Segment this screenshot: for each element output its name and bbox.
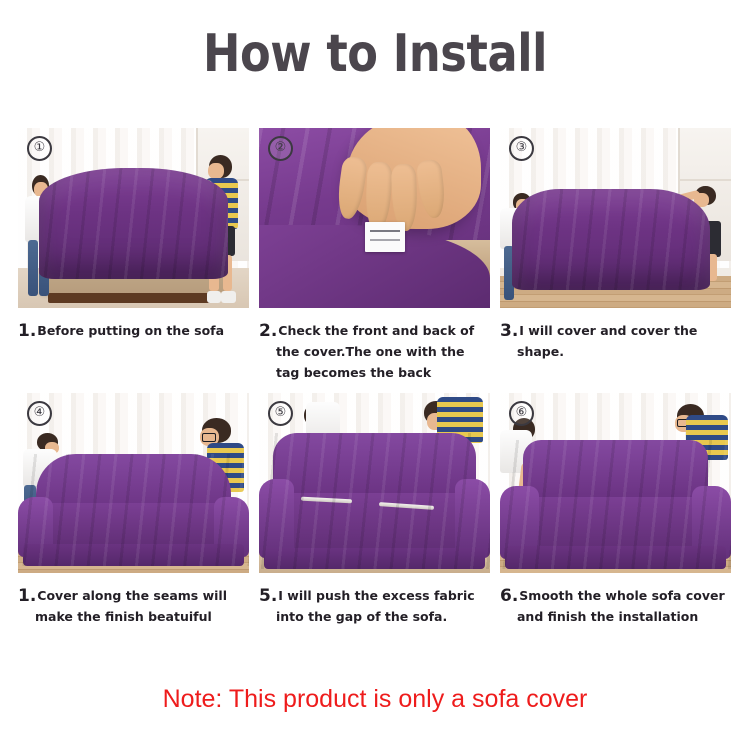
covered-sofa — [18, 454, 249, 566]
covered-sofa — [500, 440, 731, 570]
fabric-folds — [512, 189, 711, 290]
step-card-3: ③ 3.I will cover and cover theshape. — [500, 128, 731, 383]
sofa-seat — [514, 497, 717, 551]
step-badge-4: ④ — [27, 401, 52, 426]
step-badge-5: ⑤ — [268, 401, 293, 426]
purple-cover-cloth — [39, 168, 228, 280]
step-card-5: ⑤ 5.I will push the excess fabricinto th… — [259, 393, 490, 627]
sofa-back — [523, 440, 708, 497]
caption-line-1: Cover along the seams will — [37, 588, 227, 603]
sofa-arm-left — [259, 479, 294, 558]
step-number: 1. — [18, 321, 36, 341]
shoe — [221, 291, 235, 303]
sofa-skirt — [23, 544, 245, 566]
step-badge-2: ② — [268, 136, 293, 161]
sofa-seat — [32, 503, 235, 548]
leg — [28, 240, 38, 295]
step-card-4: ④ 1.Cover along the seams willmake the f… — [18, 393, 249, 627]
caption-line-3: tag becomes the back — [276, 362, 490, 383]
step-number: 6. — [500, 586, 518, 606]
sofa-seat — [273, 493, 476, 553]
care-tag — [365, 222, 404, 253]
how-to-install-infographic: How to Install — [0, 0, 750, 750]
tag-text-line — [370, 239, 401, 241]
fabric-folds — [39, 168, 228, 280]
step-number: 5. — [259, 586, 277, 606]
step-card-2: ② 2.Check the front and back ofthe cover… — [259, 128, 490, 383]
covered-sofa — [259, 433, 490, 570]
step-number: 2. — [259, 321, 277, 341]
sofa-skirt — [505, 546, 727, 569]
sofa-back — [273, 433, 476, 496]
step-photo-2: ② — [259, 128, 490, 308]
step-number: 1. — [18, 586, 36, 606]
caption-line-1: Smooth the whole sofa cover — [519, 588, 724, 603]
step-caption-3: 3.I will cover and cover theshape. — [500, 308, 731, 362]
tag-text-line — [370, 230, 401, 232]
glasses-icon — [202, 433, 216, 442]
caption-line-1: Before putting on the sofa — [37, 323, 224, 338]
finger — [416, 158, 448, 219]
step-photo-6: ⑥ — [500, 393, 731, 573]
step-photo-4: ④ — [18, 393, 249, 573]
sofa-arm-right — [455, 479, 490, 558]
caption-line-2: shape. — [517, 341, 731, 362]
hand — [347, 128, 481, 229]
step-caption-2: 2.Check the front and back ofthe cover.T… — [259, 308, 490, 383]
product-note: Note: This product is only a sofa cover — [0, 684, 750, 714]
step-caption-1: 1.Before putting on the sofa — [18, 308, 249, 341]
sofa-skirt — [264, 548, 486, 570]
page-title: How to Install — [53, 24, 698, 84]
caption-line-2: into the gap of the sofa. — [276, 606, 490, 627]
step-caption-6: 6.Smooth the whole sofa coverand finish … — [500, 573, 731, 627]
step-photo-3: ③ — [500, 128, 731, 308]
step-badge-1: ① — [27, 136, 52, 161]
caption-line-2: and finish the installation — [517, 606, 731, 627]
step-photo-1: ① — [18, 128, 249, 308]
step-number: 3. — [500, 321, 518, 341]
step-card-1: ① 1.Before putting on the sofa — [18, 128, 249, 383]
step-caption-4: 1.Cover along the seams willmake the fin… — [18, 573, 249, 627]
step-caption-5: 5.I will push the excess fabricinto the … — [259, 573, 490, 627]
face-icon — [208, 163, 224, 180]
step-photo-5: ⑤ — [259, 393, 490, 573]
caption-line-1: I will push the excess fabric — [278, 588, 474, 603]
purple-cover-draped — [512, 189, 711, 290]
shoe — [207, 291, 221, 303]
caption-line-1: Check the front and back of — [278, 323, 474, 338]
step-badge-6: ⑥ — [509, 401, 534, 426]
steps-grid: ① 1.Before putting on the sofa — [18, 128, 732, 627]
caption-line-2: make the finish beatuiful — [35, 606, 249, 627]
caption-line-2: the cover.The one with the — [276, 341, 490, 362]
step-card-6: ⑥ 6.Smooth the whole sofa coverand finis… — [500, 393, 731, 627]
caption-line-1: I will cover and cover the — [519, 323, 697, 338]
step-badge-3: ③ — [509, 136, 534, 161]
